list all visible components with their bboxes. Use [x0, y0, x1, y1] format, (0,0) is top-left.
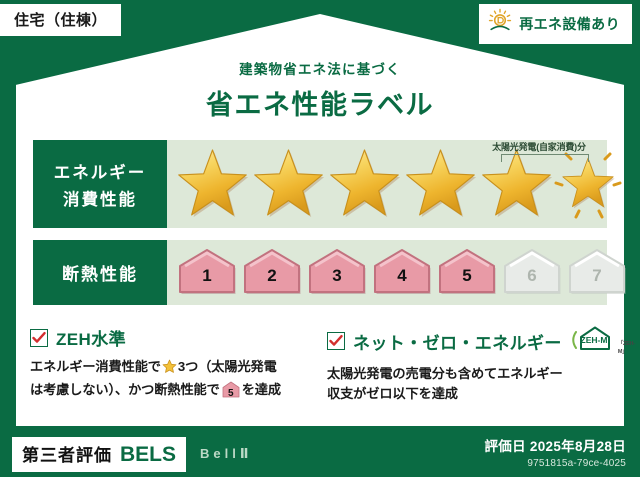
zeh-m-logo: ZEH-M 「ZEH-M」	[571, 325, 635, 357]
insulation-level-value: 7	[567, 266, 627, 286]
bels-certification-box: 第三者評価 BELS	[12, 437, 186, 472]
zeh-m-caption: 「ZEH-M」	[618, 339, 635, 357]
energy-performance-label: エネルギー 消費性能	[33, 140, 167, 228]
insulation-level-value: 6	[502, 266, 562, 286]
insulation-level-value: 2	[242, 266, 302, 286]
insulation-level-value: 4	[372, 266, 432, 286]
insulation-level-badge: 1	[177, 247, 237, 299]
building-type-tab: 住宅（住棟）	[0, 4, 121, 36]
net-zero-line2: 収支がゼロ以下を達成	[327, 386, 458, 401]
zeh-checkbox[interactable]	[30, 329, 48, 347]
evaluation-date: 評価日 2025年8月28日	[484, 435, 626, 455]
solar-sun-icon	[487, 8, 513, 39]
zeh-text-part3: は考慮しない）、かつ断熱性能で	[30, 382, 220, 397]
insulation-level-value: 3	[307, 266, 367, 286]
net-zero-description: 太陽光発電の売電分も含めてエネルギー 収支がゼロ以下を達成	[327, 364, 627, 405]
insulation-performance-row: 断熱性能 1234567	[33, 240, 607, 305]
solar-note-label: 太陽光発電(自家消費)分	[477, 140, 601, 153]
star-filled	[403, 147, 478, 222]
energy-label-card: 住宅（住棟） 再エネ設備あり 建築物省エネ法に基づく	[0, 0, 640, 477]
title-block: 建築物省エネ法に基づく 省エネ性能ラベル	[0, 58, 640, 122]
inline-star-icon	[162, 362, 177, 377]
star-filled	[327, 147, 402, 222]
insulation-level-badge: 6	[502, 247, 562, 299]
title-subtitle: 建築物省エネ法に基づく	[0, 58, 640, 78]
energy-label-line2: 消費性能	[63, 186, 137, 210]
third-party-label: 第三者評価	[22, 441, 112, 466]
net-zero-checkbox[interactable]	[327, 332, 345, 350]
energy-performance-row: エネルギー 消費性能 太陽光発電(自家消費)分	[33, 140, 607, 228]
inline-house-badge-icon: 5	[222, 381, 240, 404]
renewable-badge-label: 再エネ設備あり	[519, 14, 620, 34]
zeh-description: エネルギー消費性能で3つ（太陽光発電は考慮しない）、かつ断熱性能で5を達成	[30, 357, 320, 405]
bels-label: BELS	[120, 443, 176, 467]
net-zero-line1: 太陽光発電の売電分も含めてエネルギー	[327, 366, 563, 381]
criteria-zeh-header: ZEH水準	[30, 325, 320, 350]
insulation-performance-label: 断熱性能	[33, 240, 167, 305]
criteria-zeh: ZEH水準 エネルギー消費性能で3つ（太陽光発電は考慮しない）、かつ断熱性能で5…	[30, 325, 320, 405]
svg-text:ZEH-M: ZEH-M	[580, 335, 607, 345]
star-solar	[560, 156, 616, 212]
star-filled	[251, 147, 326, 222]
solar-bracket	[501, 154, 589, 162]
zeh-title: ZEH水準	[56, 325, 126, 350]
energy-rating-panel: 太陽光発電(自家消費)分	[167, 140, 607, 228]
footer-bar: 第三者評価 BELS BellⅡ 評価日 2025年8月28日 9751815a…	[0, 429, 640, 477]
zeh-text-part4: を達成	[242, 382, 281, 397]
insulation-level-value: 1	[177, 266, 237, 286]
insulation-level-badge: 7	[567, 247, 627, 299]
renewable-equipment-badge: 再エネ設備あり	[479, 4, 632, 44]
star-filled	[175, 147, 250, 222]
criteria-net-zero: ネット・ゼロ・エネルギー ZEH-M 「ZEH-M」 太陽光発電の売電分も含めて…	[327, 325, 627, 405]
insulation-level-badge: 4	[372, 247, 432, 299]
insulation-level-badge: 5	[437, 247, 497, 299]
zeh-m-house-icon: ZEH-M	[571, 325, 617, 357]
insulation-label-text: 断熱性能	[62, 260, 138, 285]
insulation-level-value: 5	[437, 266, 497, 286]
net-zero-title: ネット・ゼロ・エネルギー	[353, 329, 562, 354]
zeh-text-part1: エネルギー消費性能で	[30, 359, 161, 374]
insulation-level-badge: 2	[242, 247, 302, 299]
inline-house-value: 5	[222, 386, 240, 402]
zeh-text-part2: 3つ（太陽光発電	[178, 359, 277, 374]
insulation-rating-panel: 1234567	[167, 240, 607, 305]
energy-label-line1: エネルギー	[54, 159, 147, 183]
bels-grade-label: BellⅡ	[200, 446, 252, 462]
page-title: 省エネ性能ラベル	[0, 83, 640, 122]
criteria-net-zero-header: ネット・ゼロ・エネルギー ZEH-M 「ZEH-M」	[327, 325, 627, 357]
insulation-level-scale: 1234567	[167, 240, 607, 305]
insulation-level-badge: 3	[307, 247, 367, 299]
building-type-label: 住宅（住棟）	[14, 12, 107, 29]
evaluation-info: 評価日 2025年8月28日 9751815a-79ce-4025	[484, 435, 626, 469]
evaluation-id: 9751815a-79ce-4025	[484, 458, 626, 469]
